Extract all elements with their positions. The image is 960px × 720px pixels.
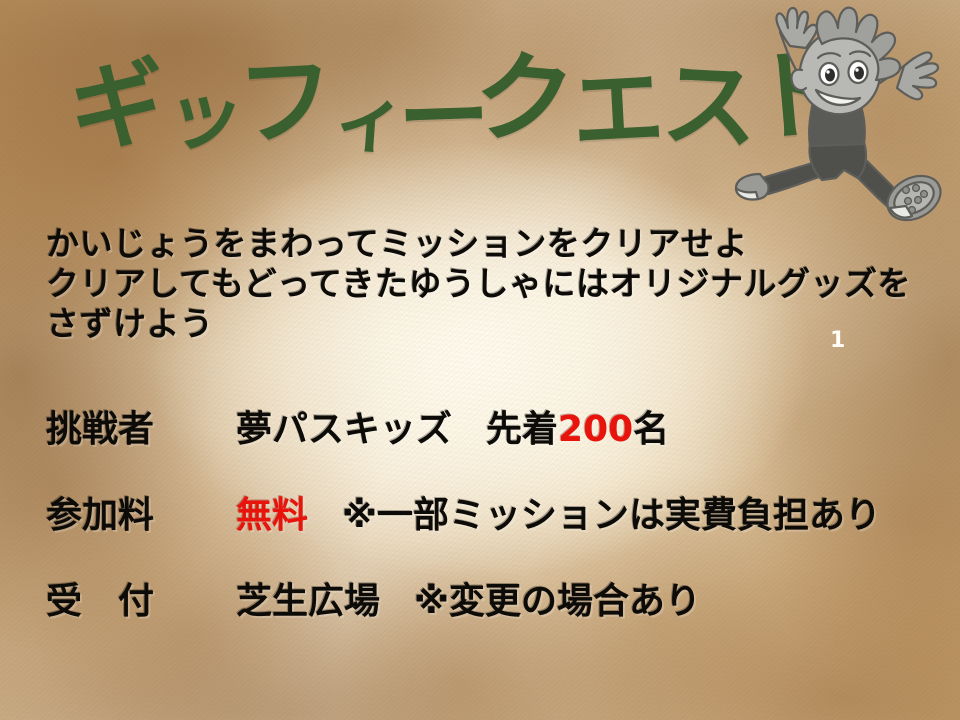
challenger-firstcome-label: 先着 [486,409,558,450]
reception-location: 芝生広場 [236,581,380,622]
fee-amount: 無料 [236,495,308,536]
lead-line-3: さずけよう [46,304,926,344]
lead-paragraph: かいじょうをまわってミッションをクリアせよ クリアしてもどってきたゆうしゃにはオ… [46,224,926,344]
quest-poster: ギ ッ フ ィ ー ク エ ス ト [0,0,960,720]
challenger-target: 夢パスキッズ [236,409,452,450]
lead-line-1: かいじょうをまわってミッションをクリアせよ [46,224,926,264]
info-value-reception: 芝生広場※変更の場合あり [236,580,701,624]
info-value-fee: 無料※一部ミッションは実費負担あり [236,494,881,538]
info-table: 挑戦者 夢パスキッズ先着200名 参加料 無料※一部ミッションは実費負担あり 受… [46,408,936,666]
info-row-reception: 受 付 芝生広場※変更の場合あり [46,580,936,666]
title-char-0: ギ [67,57,168,158]
info-value-challenger: 夢パスキッズ先着200名 [236,408,669,452]
challenger-capacity-unit: 名 [633,409,669,450]
info-row-challenger: 挑戦者 夢パスキッズ先着200名 [46,408,936,494]
info-label-reception: 受 付 [46,580,236,624]
info-label-challenger: 挑戦者 [46,408,236,452]
poster-title: ギ ッ フ ィ ー ク エ ス ト [70,42,810,154]
challenger-capacity-number: 200 [558,409,633,450]
title-char-5: ク [470,46,578,154]
title-char-1: ッ [162,74,248,160]
stray-mark: 1 [830,330,845,352]
info-label-fee: 参加料 [46,494,236,538]
reception-note: ※変更の場合あり [414,581,701,622]
fee-note: ※一部ミッションは実費負担あり [342,495,881,536]
info-row-fee: 参加料 無料※一部ミッションは実費負担あり [46,494,936,580]
lead-line-2: クリアしてもどってきたゆうしゃにはオリジナルグッズを [46,264,926,304]
title-char-2: フ [236,52,337,153]
title-char-6: エ [570,62,667,159]
jumping-boy-mascot [718,2,958,227]
